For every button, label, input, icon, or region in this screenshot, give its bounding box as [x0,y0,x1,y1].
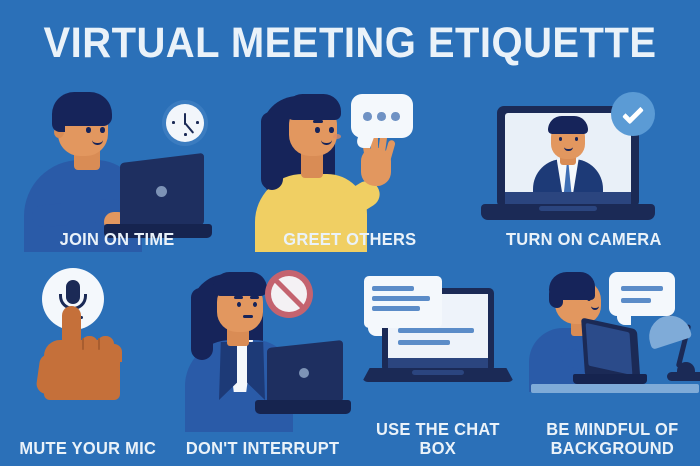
eyebrow [82,120,93,123]
illustration-woman-at-laptop [175,262,350,435]
tip-turn-on-camera: TURN ON CAMERA [467,82,700,252]
caption-line-2: BOX [376,439,500,458]
chat-line-back-2 [372,296,430,301]
eyebrow-left [234,296,243,299]
eye-right [575,137,579,141]
hair-lock [261,112,283,190]
hair [548,116,588,134]
eye-left [86,127,91,133]
laptop-logo [299,368,309,378]
clock-pip-3 [196,121,199,124]
chat-line-back-3 [372,306,420,311]
lamp-base [667,372,700,381]
eyebrow-right [250,296,259,299]
waving-hand-icon [361,148,391,186]
laptop-base [255,400,351,414]
tip-caption-be-mindful-of-background: BE MINDFUL OF BACKGROUND [546,416,678,462]
tip-caption-use-the-chat-box: USE THE CHAT BOX [376,416,500,462]
caption-line-2: BACKGROUND [546,439,678,458]
page-title: VIRTUAL MEETING ETIQUETTE [25,20,676,66]
illustration-laptop-video-call [467,82,700,226]
laptop-trackpad [412,370,464,375]
hair-fringe [285,94,341,120]
chat-line-front-1 [398,328,474,333]
bubble-dot-3 [391,112,400,121]
tip-caption-turn-on-camera: TURN ON CAMERA [505,226,661,252]
tip-greet-others: GREET OTHERS [233,82,466,252]
eye-right [329,127,334,133]
laptop-screen [505,113,631,195]
hair-side [52,108,65,132]
tip-caption-join-on-time: JOIN ON TIME [59,226,174,252]
finger-crease-2 [98,338,100,350]
mouth [243,315,253,318]
bubble-line-1 [621,286,663,291]
tip-join-on-time: JOIN ON TIME [0,82,233,252]
tip-mute-your-mic: MUTE YOUR MIC [0,262,175,462]
eyebrow [313,120,323,123]
tip-caption-greet-others: GREET OTHERS [283,226,416,252]
desk-surface [531,384,699,393]
caption-line-1: USE THE CHAT [376,420,500,439]
illustration-laptop-chat [350,262,525,416]
illustration-person-at-desk [525,262,700,416]
illustration-waving-person [233,82,466,226]
laptop-base [573,374,647,384]
bubble-dot-2 [377,112,386,121]
cheek [333,134,341,139]
infographic-poster: VIRTUAL MEETING ETIQUETTE [0,0,700,466]
chat-line-back-1 [372,286,414,291]
tip-dont-interrupt: DON'T INTERRUPT [175,262,350,462]
tips-row-2: MUTE YOUR MIC [0,262,700,462]
tip-caption-mute-your-mic: MUTE YOUR MIC [19,435,156,462]
illustration-mute-mic [0,262,175,435]
speech-bubble-icon [609,272,675,316]
clock-pip-9 [172,121,175,124]
hair-lock [191,288,213,360]
chat-line-front-2 [398,340,450,345]
clock-pip-6 [184,133,187,136]
bubble-line-2 [621,298,651,303]
finger-crease-1 [82,338,84,350]
chat-bubble-icon [364,276,442,328]
hair-side [549,286,563,308]
tips-row-1: JOIN ON TIME [0,82,700,252]
eye-right [100,127,105,133]
hair-fringe [213,272,267,296]
laptop-trackpad [539,206,597,211]
illustration-person-at-laptop [0,82,233,226]
tip-caption-dont-interrupt: DON'T INTERRUPT [186,435,339,462]
eye [587,296,591,301]
bubble-dot-1 [363,112,372,121]
laptop-logo [156,186,167,197]
tip-be-mindful-of-background: BE MINDFUL OF BACKGROUND [525,262,700,462]
eye-left [315,127,320,133]
eye-left [559,137,563,141]
caption-line-1: BE MINDFUL OF [546,420,678,439]
tip-use-the-chat-box: USE THE CHAT BOX [350,262,525,462]
